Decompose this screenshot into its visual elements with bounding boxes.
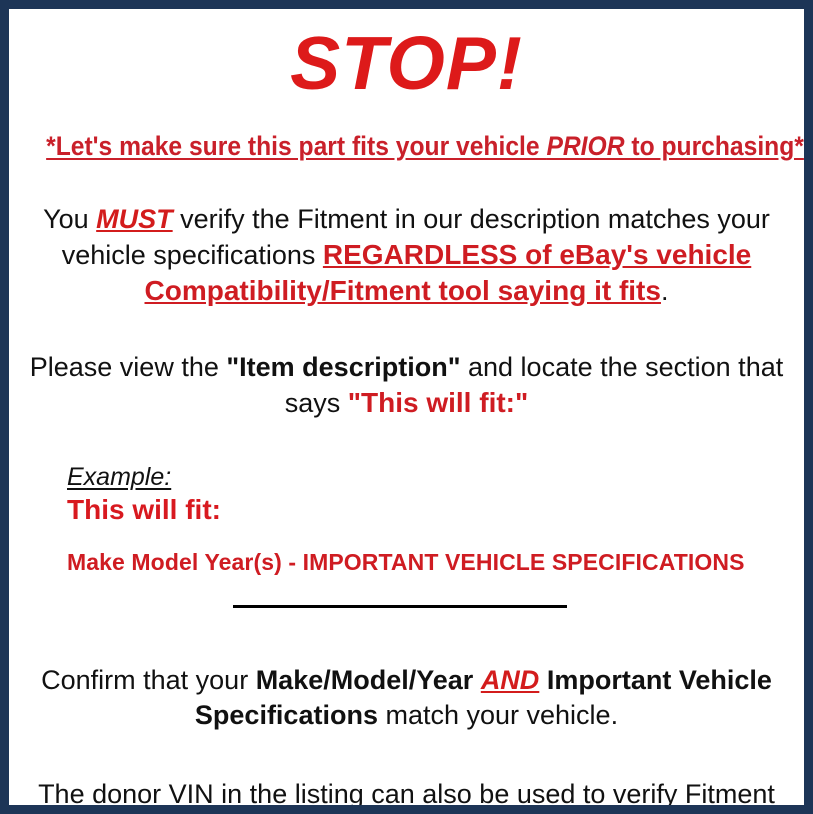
confirm-text-3	[539, 665, 547, 695]
section-divider	[233, 605, 567, 608]
emphasis-and: AND	[481, 665, 540, 695]
page-title: STOP!	[19, 26, 794, 101]
paragraph-item-description: Please view the "Item description" and l…	[19, 350, 794, 421]
emphasis-item-description: "Item description"	[226, 352, 460, 382]
must-text-1: You	[43, 204, 96, 234]
subtitle-tail-text: to purchasing*	[625, 131, 804, 161]
subtitle-lead-text: *Let's make sure this part fits your veh…	[46, 131, 546, 161]
example-this-will-fit: This will fit:	[67, 494, 794, 526]
example-label-row: Example:	[67, 463, 794, 492]
paragraph-must-verify: You MUST verify the Fitment in our descr…	[19, 202, 794, 310]
subtitle-banner: *Let's make sure this part fits your veh…	[46, 132, 767, 162]
confirm-text-2	[473, 665, 481, 695]
example-block: Example: This will fit: Make Model Year(…	[19, 463, 794, 577]
confirm-text-4: match your vehicle.	[378, 700, 618, 730]
emphasis-must: MUST	[96, 204, 173, 234]
notice-content: STOP! *Let's make sure this part fits yo…	[9, 9, 804, 805]
section-divider-wrap	[19, 605, 794, 619]
subtitle-emphasis-prior: PRIOR	[546, 131, 624, 161]
example-spec-line: Make Model Year(s) - IMPORTANT VEHICLE S…	[67, 549, 794, 577]
confirm-text-1: Confirm that your	[41, 665, 256, 695]
must-text-3: .	[661, 276, 669, 306]
example-label: Example:	[67, 463, 171, 492]
paragraph-donor-vin: The donor VIN in the listing can also be…	[19, 777, 794, 814]
fitment-notice-card: STOP! *Let's make sure this part fits yo…	[0, 0, 813, 814]
please-text-1: Please view the	[30, 352, 227, 382]
paragraph-confirm: Confirm that your Make/Model/Year AND Im…	[19, 663, 794, 733]
emphasis-this-will-fit-quote: "This will fit:"	[348, 387, 529, 418]
emphasis-make-model-year: Make/Model/Year	[256, 665, 474, 695]
